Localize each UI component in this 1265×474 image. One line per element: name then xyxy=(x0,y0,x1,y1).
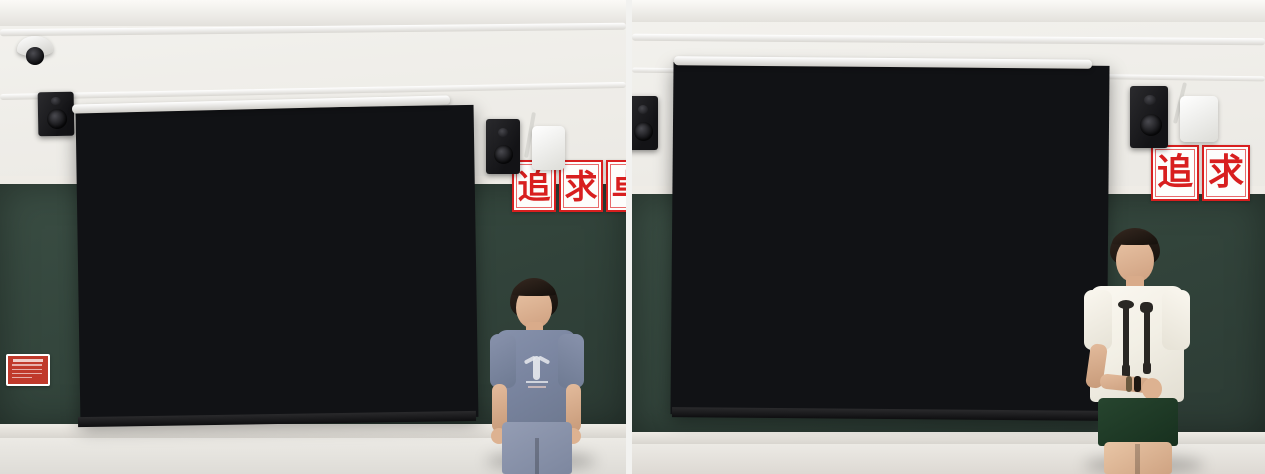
right-presenter-leg-gap xyxy=(1135,444,1140,474)
right-photo-speaker-left xyxy=(632,96,658,150)
left-screen-frame xyxy=(76,105,479,423)
left-presenter-sleeve-right xyxy=(558,334,584,388)
right-presenter xyxy=(1078,228,1204,474)
right-presenter-hand xyxy=(1142,378,1162,400)
screenshot-root: 追 求 卓 xyxy=(0,0,1265,474)
left-presenter xyxy=(478,278,598,474)
right-photo-wall-box xyxy=(1180,96,1218,142)
right-photo: 追 求 xyxy=(632,0,1265,474)
dome-camera-icon xyxy=(17,36,53,70)
banner-char-2: 卓 xyxy=(606,160,626,212)
left-wall-speaker xyxy=(38,92,75,137)
right-presenter-shorts xyxy=(1098,398,1178,446)
left-photo-wall-box xyxy=(532,126,565,170)
left-notice-sign xyxy=(6,354,50,386)
left-presenter-shirt-graphic xyxy=(522,354,552,394)
left-photo: 追 求 卓 xyxy=(0,0,626,474)
right-banner: 追 求 xyxy=(1151,145,1250,201)
right-screen-frame xyxy=(670,62,1109,418)
right-presenter-sleeve-right xyxy=(1162,290,1190,350)
left-presenter-sleeve-left xyxy=(490,334,516,388)
left-presenter-leg-gap xyxy=(535,438,539,474)
panel-divider xyxy=(626,0,632,474)
right-presenter-bracelet-2 xyxy=(1126,376,1132,392)
left-ceiling-beam xyxy=(0,0,626,26)
right-photo-speaker xyxy=(1130,86,1168,148)
banner-char-r1: 求 xyxy=(1202,145,1250,201)
right-presenter-bracelet-1 xyxy=(1134,376,1141,392)
left-photo-speaker-right xyxy=(486,119,520,174)
right-presenter-sleeve-left xyxy=(1084,290,1112,350)
banner-char-r0: 追 xyxy=(1151,145,1199,201)
left-banner: 追 求 卓 xyxy=(512,160,626,212)
right-ceiling-beam xyxy=(632,0,1265,22)
banner-char-1: 求 xyxy=(559,160,603,212)
right-presenter-shirt-graphic xyxy=(1116,300,1160,384)
